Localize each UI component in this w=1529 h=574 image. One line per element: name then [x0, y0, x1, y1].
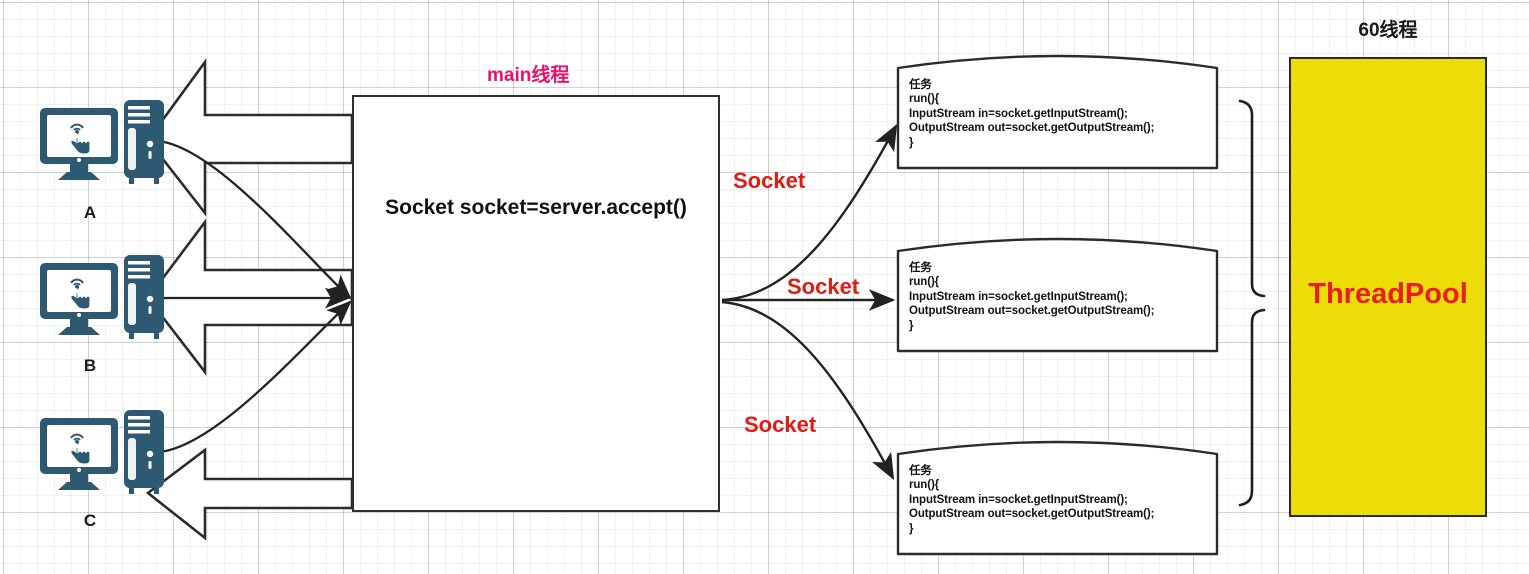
brace-tasks-to-threadpool [1240, 101, 1264, 505]
client-icon-a [40, 100, 164, 184]
main-thread-label: main线程 [487, 60, 569, 87]
task-close-3: } [909, 523, 913, 535]
socket-label-3: Socket [744, 412, 816, 438]
task-title-1: 任务 [909, 77, 932, 91]
task-in-3: InputStream in=socket.getInputStream(); [909, 494, 1128, 506]
block-arrow-to-client-b [148, 222, 352, 372]
task-box-1: 任务 run(){ InputStream in=socket.getInput… [897, 55, 1217, 168]
touch-cursor-glyph [71, 125, 90, 154]
task-run-3: run(){ [909, 479, 939, 491]
task-title-2: 任务 [909, 260, 932, 274]
task-out-2: OutputStream out=socket.getOutputStream(… [909, 305, 1154, 317]
task-out-3: OutputStream out=socket.getOutputStream(… [909, 508, 1154, 520]
connection-server-to-task-3 [722, 302, 893, 478]
client-label-a: A [50, 203, 130, 223]
task-run-2: run(){ [909, 276, 939, 288]
socket-label-1: Socket [733, 168, 805, 194]
socket-label-2: Socket [787, 274, 859, 300]
client-label-c: C [50, 511, 130, 531]
thread-count-label: 60线程 [1289, 15, 1487, 42]
touch-cursor-glyph [71, 280, 90, 309]
connection-client-a-to-server [158, 141, 350, 298]
diagram-canvas: Socket socket=server.accept() main线程 Soc… [0, 0, 1529, 574]
task-close-1: } [909, 137, 913, 149]
client-label-b: B [50, 356, 130, 376]
client-icon-c [40, 410, 164, 494]
task-close-2: } [909, 320, 913, 332]
task-in-1: InputStream in=socket.getInputStream(); [909, 108, 1128, 120]
client-icon-b [40, 255, 164, 339]
server-accept-box [352, 95, 720, 512]
block-arrow-to-client-c [148, 450, 352, 538]
task-text-1: 任务 run(){ InputStream in=socket.getInput… [909, 77, 1154, 150]
task-in-2: InputStream in=socket.getInputStream(); [909, 291, 1128, 303]
connection-client-c-to-server [158, 302, 350, 452]
task-box-2: 任务 run(){ InputStream in=socket.getInput… [897, 238, 1217, 351]
task-title-3: 任务 [909, 463, 932, 477]
task-box-3: 任务 run(){ InputStream in=socket.getInput… [897, 441, 1217, 554]
task-text-2: 任务 run(){ InputStream in=socket.getInput… [909, 260, 1154, 333]
block-arrow-to-client-a [148, 62, 352, 213]
touch-cursor-glyph [71, 435, 90, 464]
task-run-1: run(){ [909, 93, 939, 105]
task-out-1: OutputStream out=socket.getOutputStream(… [909, 122, 1154, 134]
server-accept-code: Socket socket=server.accept() [352, 196, 720, 220]
task-text-3: 任务 run(){ InputStream in=socket.getInput… [909, 463, 1154, 536]
threadpool-label: ThreadPool [1289, 278, 1487, 311]
